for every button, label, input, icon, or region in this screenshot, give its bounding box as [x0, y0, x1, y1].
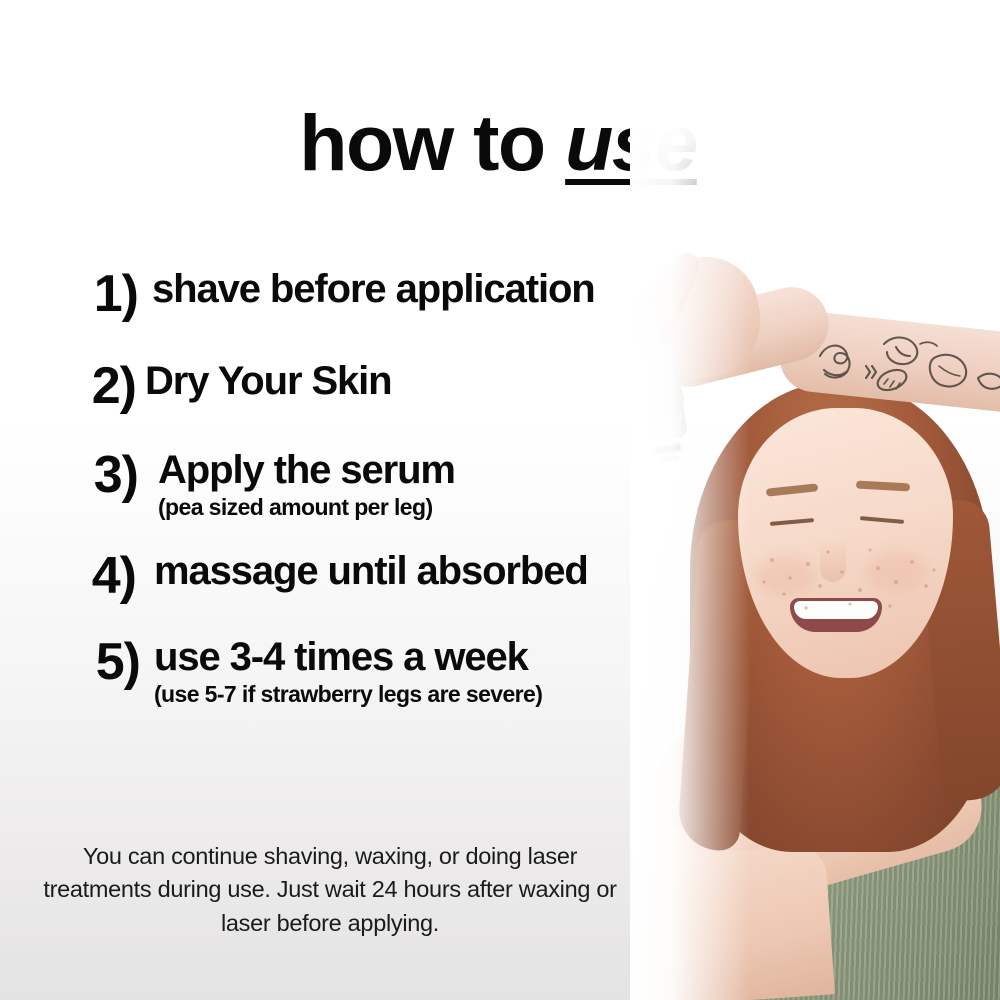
page-title: how to use — [0, 103, 1000, 182]
nose — [820, 540, 846, 582]
tank-top — [722, 728, 1000, 1000]
hair-strand-right — [917, 498, 1000, 803]
step-number: 1) — [72, 268, 138, 320]
list-item-step-3: 3) Apply the serum (pea sized amount per… — [0, 449, 660, 520]
step-text: use 3-4 times a week — [154, 636, 660, 678]
freckles — [750, 520, 946, 630]
list-item-step-4: 4) massage until absorbed — [0, 550, 660, 602]
page-title-emphasis: use — [565, 98, 701, 187]
footnote-text: You can continue shaving, waxing, or doi… — [40, 840, 620, 940]
page-title-plain: how to — [299, 98, 565, 187]
list-item-step-1: 1) shave before application — [0, 268, 660, 320]
closed-eye-right — [860, 516, 904, 524]
step-number: 2) — [70, 360, 136, 412]
step-subtext: (use 5-7 if strawberry legs are severe) — [154, 682, 660, 707]
eyebrow-right — [856, 481, 910, 492]
raised-upper-forearm — [644, 279, 837, 394]
step-number: 5) — [74, 636, 140, 688]
step-number: 3) — [72, 449, 138, 501]
crossed-arm — [630, 746, 992, 935]
hair-strand-left — [677, 518, 762, 852]
neck — [782, 650, 902, 760]
step-text: Dry Your Skin — [145, 360, 660, 402]
crossed-forearm — [630, 845, 835, 1000]
steps-list: 1) shave before application 2) Dry Your … — [0, 268, 660, 708]
forearm-tattoos — [808, 326, 1000, 404]
raised-forearm — [777, 309, 1000, 416]
step-text: shave before application — [152, 268, 660, 310]
step-number: 4) — [70, 550, 136, 602]
list-item-step-2: 2) Dry Your Skin — [0, 360, 660, 412]
step-text: Apply the serum — [158, 449, 660, 491]
list-item-step-5: 5) use 3-4 times a week (use 5-7 if stra… — [0, 636, 660, 707]
face — [738, 408, 953, 678]
bottle-label-subline — [658, 456, 678, 463]
how-to-use-infographic: how to use 1) shave before application 2… — [0, 0, 1000, 1000]
torso — [652, 712, 1000, 1000]
closed-eye-left — [770, 518, 814, 526]
hair — [690, 382, 990, 852]
step-text: massage until absorbed — [154, 550, 660, 592]
right-shoulder — [920, 700, 1000, 820]
tank-top-strap — [733, 726, 806, 940]
cheek-left — [756, 556, 816, 596]
step-subtext: (pea sized amount per leg) — [158, 495, 660, 520]
cheek-right — [866, 552, 926, 592]
smiling-mouth — [790, 598, 882, 632]
eyebrow-left — [766, 483, 819, 496]
